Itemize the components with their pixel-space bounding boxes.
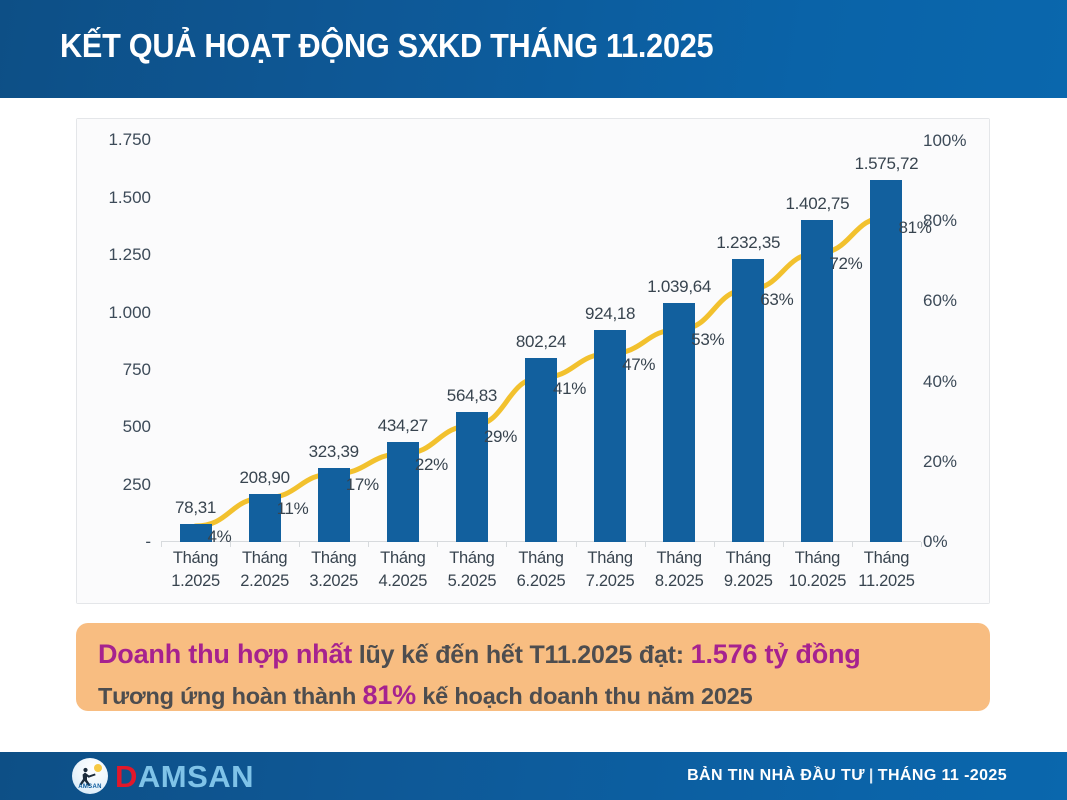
x-axis-category-line: 8.2025 bbox=[655, 570, 704, 593]
x-axis-category-label: Tháng4.2025 bbox=[378, 547, 427, 594]
page-footer: AMSAN DAMSAN BẢN TIN NHÀ ĐẦU TƯ|THÁNG 11… bbox=[0, 752, 1067, 800]
x-axis-category-line: Tháng bbox=[448, 547, 497, 570]
percent-value-label: 72% bbox=[829, 254, 862, 274]
x-axis-category-line: 3.2025 bbox=[309, 570, 358, 593]
y-axis-left-tick: 1.500 bbox=[108, 188, 151, 208]
logo-letter-d: D bbox=[115, 759, 138, 794]
percent-value-label: 53% bbox=[691, 330, 724, 350]
bar-value-label: 1.402,75 bbox=[785, 194, 849, 214]
y-axis-left-tick: 1.750 bbox=[108, 130, 151, 150]
summary-callout: Doanh thu hợp nhất lũy kế đến hết T11.20… bbox=[76, 623, 990, 711]
bar-value-label: 1.575,72 bbox=[855, 154, 919, 174]
chart-panel: -2505007501.0001.2501.5001.750 0%20%40%6… bbox=[76, 118, 990, 604]
x-axis-tick bbox=[921, 542, 922, 547]
callout-text-middle: lũy kế đến hết T11.2025 đạt: bbox=[352, 641, 691, 669]
x-axis-category-line: 6.2025 bbox=[517, 570, 566, 593]
y-axis-left-tick: 250 bbox=[123, 475, 151, 495]
x-axis-category-line: Tháng bbox=[586, 547, 635, 570]
footer-month-label: THÁNG 11 -2025 bbox=[878, 767, 1007, 784]
x-axis-category-line: 11.2025 bbox=[858, 570, 914, 593]
bar-value-label: 802,24 bbox=[516, 332, 566, 352]
x-axis-category-label: Tháng10.2025 bbox=[789, 547, 847, 594]
footer-caption: BẢN TIN NHÀ ĐẦU TƯ|THÁNG 11 -2025 bbox=[687, 767, 1007, 785]
x-axis-category-line: 2.2025 bbox=[240, 570, 289, 593]
y-axis-right-tick: 60% bbox=[923, 291, 957, 311]
x-axis-category-line: 5.2025 bbox=[448, 570, 497, 593]
x-axis-category-line: 9.2025 bbox=[724, 570, 773, 593]
x-axis-category-line: Tháng bbox=[789, 547, 847, 570]
percent-value-label: 11% bbox=[277, 499, 309, 519]
x-axis-category-line: Tháng bbox=[724, 547, 773, 570]
percent-value-label: 29% bbox=[484, 427, 517, 447]
x-axis-category-label: Tháng7.2025 bbox=[586, 547, 635, 594]
percent-value-label: 81% bbox=[898, 218, 931, 238]
bar-value-label: 434,27 bbox=[378, 416, 428, 436]
logo-letters-amsan: AMSAN bbox=[138, 759, 254, 794]
callout-highlight-revenue: Doanh thu hợp nhất bbox=[98, 639, 352, 669]
callout-text-prefix: Tương ứng hoàn thành bbox=[98, 683, 363, 709]
percent-value-label: 17% bbox=[346, 475, 379, 495]
bar-value-label: 1.039,64 bbox=[647, 277, 711, 297]
y-axis-right-tick: 40% bbox=[923, 372, 957, 392]
x-axis-category-label: Tháng11.2025 bbox=[858, 547, 914, 594]
x-axis-category-line: Tháng bbox=[171, 547, 220, 570]
x-axis-category-label: Tháng1.2025 bbox=[171, 547, 220, 594]
percent-value-label: 41% bbox=[553, 379, 586, 399]
bar-value-label: 78,31 bbox=[175, 498, 216, 518]
x-axis-category-label: Tháng9.2025 bbox=[724, 547, 773, 594]
bar-value-label: 208,90 bbox=[240, 468, 290, 488]
bar-value-label: 323,39 bbox=[309, 442, 359, 462]
x-axis-category-label: Tháng3.2025 bbox=[309, 547, 358, 594]
page-title: KẾT QUẢ HOẠT ĐỘNG SXKD THÁNG 11.2025 bbox=[60, 27, 713, 65]
page-header: KẾT QUẢ HOẠT ĐỘNG SXKD THÁNG 11.2025 bbox=[0, 0, 1067, 98]
x-axis-category-line: Tháng bbox=[240, 547, 289, 570]
callout-line-1: Doanh thu hợp nhất lũy kế đến hết T11.20… bbox=[98, 634, 990, 675]
footer-newsletter-label: BẢN TIN NHÀ ĐẦU TƯ bbox=[687, 767, 865, 784]
y-axis-left-tick: 500 bbox=[123, 417, 151, 437]
x-axis-category-line: 7.2025 bbox=[586, 570, 635, 593]
y-axis-left-tick: 750 bbox=[123, 360, 151, 380]
damsan-emblem-icon: AMSAN bbox=[72, 758, 108, 794]
emblem-wordmark: AMSAN bbox=[72, 784, 108, 790]
x-axis-category-line: Tháng bbox=[378, 547, 427, 570]
x-axis-category-line: 4.2025 bbox=[378, 570, 427, 593]
footer-separator: | bbox=[865, 767, 878, 784]
y-axis-left: -2505007501.0001.2501.5001.750 bbox=[85, 119, 151, 603]
y-axis-right: 0%20%40%60%80%100% bbox=[923, 119, 983, 603]
bar-value-label: 1.232,35 bbox=[716, 233, 780, 253]
y-axis-right-tick: 100% bbox=[923, 131, 966, 151]
bar-value-label: 924,18 bbox=[585, 304, 635, 324]
plot-area: 78,314%208,9011%323,3917%434,2722%564,83… bbox=[161, 129, 921, 542]
x-axis-category-line: Tháng bbox=[517, 547, 566, 570]
y-axis-left-tick: 1.000 bbox=[108, 303, 151, 323]
x-axis-categories: Tháng1.2025Tháng2.2025Tháng3.2025Tháng4.… bbox=[161, 547, 921, 601]
brand-logo: AMSAN DAMSAN bbox=[72, 758, 254, 794]
callout-line-2: Tương ứng hoàn thành 81% kế hoạch doanh … bbox=[98, 675, 990, 716]
callout-highlight-amount: 1.576 tỷ đồng bbox=[691, 639, 861, 669]
damsan-wordmark: DAMSAN bbox=[115, 761, 254, 792]
callout-text-suffix: kế hoạch doanh thu năm 2025 bbox=[416, 683, 753, 709]
bar-value-label: 564,83 bbox=[447, 386, 497, 406]
x-axis-category-line: Tháng bbox=[655, 547, 704, 570]
x-axis-category-line: Tháng bbox=[858, 547, 914, 570]
x-axis-category-label: Tháng5.2025 bbox=[448, 547, 497, 594]
percent-value-label: 4% bbox=[208, 527, 232, 547]
percent-value-label: 63% bbox=[760, 290, 793, 310]
x-axis-category-label: Tháng2.2025 bbox=[240, 547, 289, 594]
y-axis-right-tick: 20% bbox=[923, 452, 957, 472]
x-axis-category-label: Tháng6.2025 bbox=[517, 547, 566, 594]
percent-value-label: 47% bbox=[622, 355, 655, 375]
y-axis-left-tick: 1.250 bbox=[108, 245, 151, 265]
x-axis-category-label: Tháng8.2025 bbox=[655, 547, 704, 594]
x-axis-category-line: 1.2025 bbox=[171, 570, 220, 593]
y-axis-right-tick: 0% bbox=[923, 532, 948, 552]
x-axis-category-line: Tháng bbox=[309, 547, 358, 570]
x-axis-category-line: 10.2025 bbox=[789, 570, 847, 593]
y-axis-left-tick: - bbox=[145, 532, 151, 552]
callout-highlight-percent: 81% bbox=[363, 680, 416, 710]
percent-value-label: 22% bbox=[415, 455, 448, 475]
